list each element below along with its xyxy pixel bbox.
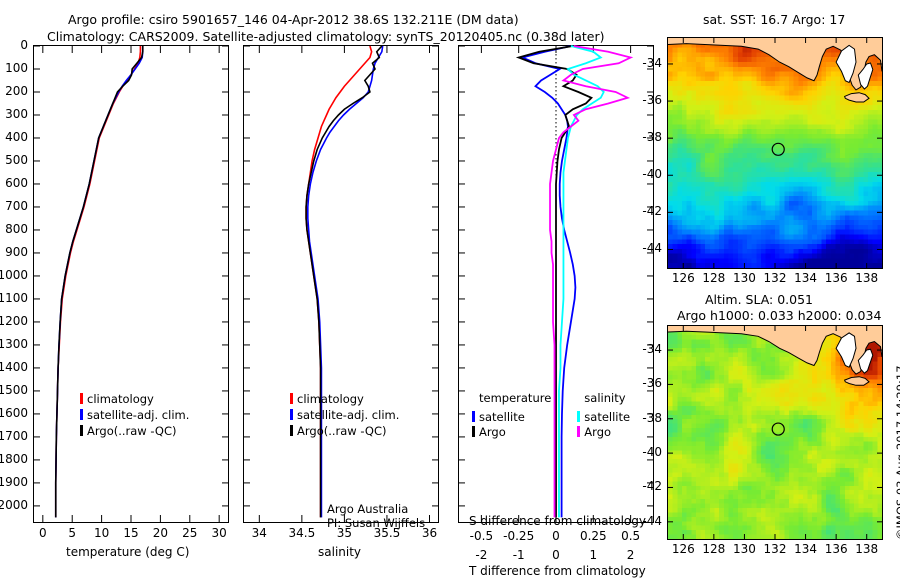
salinity-tick-label: 34.5 bbox=[289, 526, 316, 540]
sla-lat-ticklabels: -34-36-38-40-42-44 bbox=[633, 325, 665, 540]
temperature-tick-label: 20 bbox=[153, 526, 168, 540]
depth-tick-label: 300 bbox=[5, 107, 28, 121]
latitude-tick-label: -42 bbox=[642, 479, 662, 493]
legend-group: salinitysatelliteArgo bbox=[577, 391, 630, 436]
latitude-tick-label: -40 bbox=[642, 445, 662, 459]
panel-note: PI: Susan Wijffels bbox=[327, 516, 425, 530]
longitude-tick-label: 136 bbox=[825, 271, 848, 285]
depth-tick-label: 1600 bbox=[0, 406, 28, 420]
longitude-tick-label: 130 bbox=[733, 271, 756, 285]
latitude-tick-label: -44 bbox=[642, 514, 662, 528]
difference-temperature-axis-label: T difference from climatology bbox=[469, 564, 646, 578]
difference-salinity-tick-label: 0.25 bbox=[580, 529, 607, 543]
legend-swatch bbox=[80, 409, 83, 420]
depth-tick-label: 0 bbox=[20, 38, 28, 52]
difference-salinity-tick-label: -0.5 bbox=[470, 529, 493, 543]
difference-temperature-ticklabels: -2-1012 bbox=[458, 548, 654, 563]
longitude-tick-label: 130 bbox=[733, 542, 756, 556]
legend-label: Argo(..raw -QC) bbox=[297, 424, 387, 438]
depth-tick-label: 2000 bbox=[0, 498, 28, 512]
difference-legend: temperaturesatelliteArgosalinitysatellit… bbox=[472, 391, 630, 436]
latitude-tick-label: -34 bbox=[642, 342, 662, 356]
legend-item: satellite-adj. clim. bbox=[80, 404, 189, 420]
sst-map bbox=[667, 37, 883, 269]
sst-map-title: sat. SST: 16.7 Argo: 17 bbox=[703, 12, 845, 27]
salinity-axis-label: salinity bbox=[318, 545, 361, 559]
latitude-tick-label: -40 bbox=[642, 167, 662, 181]
legend-swatch bbox=[577, 426, 580, 437]
depth-tick-label: 1100 bbox=[0, 291, 28, 305]
legend-label: Argo(..raw -QC) bbox=[87, 424, 177, 438]
latitude-tick-label: -34 bbox=[642, 56, 662, 70]
legend-swatch bbox=[290, 425, 293, 436]
temperature-tick-label: 0 bbox=[39, 526, 47, 540]
longitude-tick-label: 138 bbox=[855, 271, 878, 285]
depth-tick-label: 1000 bbox=[0, 268, 28, 282]
legend-swatch bbox=[290, 409, 293, 420]
depth-tick-label: 600 bbox=[5, 176, 28, 190]
longitude-tick-label: 134 bbox=[794, 542, 817, 556]
legend-group-title: temperature bbox=[479, 391, 551, 406]
legend-item: Argo(..raw -QC) bbox=[290, 420, 399, 436]
depth-tick-label: 400 bbox=[5, 130, 28, 144]
page-title-line1: Argo profile: csiro 5901657_146 04-Apr-2… bbox=[68, 12, 519, 27]
salinity-notes: Argo AustraliaPI: Susan Wijffels bbox=[327, 502, 425, 530]
depth-tick-label: 1400 bbox=[0, 360, 28, 374]
depth-tick-label: 200 bbox=[5, 84, 28, 98]
latitude-tick-label: -38 bbox=[642, 130, 662, 144]
depth-tick-label: 1300 bbox=[0, 337, 28, 351]
legend-item: satellite bbox=[472, 406, 551, 421]
difference-temperature-tick-label: -2 bbox=[475, 548, 487, 562]
longitude-tick-label: 132 bbox=[764, 542, 787, 556]
salinity-plot bbox=[243, 45, 439, 523]
legend-item: climatology bbox=[80, 388, 189, 404]
temperature-tick-label: 10 bbox=[94, 526, 109, 540]
copyright-text: ©IMOS 03-Aug-2017 14:29:17 bbox=[894, 365, 900, 540]
temperature-axis-label: temperature (deg C) bbox=[66, 545, 189, 559]
depth-tick-label: 700 bbox=[5, 199, 28, 213]
legend-item: satellite bbox=[577, 406, 630, 421]
legend-swatch bbox=[80, 393, 83, 404]
longitude-tick-label: 134 bbox=[794, 271, 817, 285]
longitude-tick-label: 126 bbox=[672, 271, 695, 285]
difference-salinity-tick-label: -0.25 bbox=[503, 529, 534, 543]
salinity-tick-label: 34 bbox=[252, 526, 267, 540]
depth-tick-label: 900 bbox=[5, 245, 28, 259]
depth-tick-label: 1800 bbox=[0, 452, 28, 466]
depth-tick-label: 1200 bbox=[0, 314, 28, 328]
legend-label: Argo bbox=[584, 425, 611, 439]
longitude-tick-label: 132 bbox=[764, 271, 787, 285]
depth-tick-label: 100 bbox=[5, 61, 28, 75]
temperature-y-ticklabels: 0100200300400500600700800900100011001200… bbox=[0, 45, 31, 523]
longitude-tick-label: 128 bbox=[702, 271, 725, 285]
depth-tick-label: 1500 bbox=[0, 383, 28, 397]
temperature-plot bbox=[33, 45, 229, 523]
difference-salinity-tick-label: 0 bbox=[552, 529, 560, 543]
temperature-tick-label: 5 bbox=[68, 526, 76, 540]
difference-salinity-ticklabels: -0.5-0.2500.250.5 bbox=[458, 529, 654, 544]
sla-lon-ticklabels: 126128130132134136138 bbox=[667, 542, 883, 558]
longitude-tick-label: 126 bbox=[672, 542, 695, 556]
latitude-tick-label: -36 bbox=[642, 376, 662, 390]
temperature-tick-label: 25 bbox=[182, 526, 197, 540]
difference-temperature-tick-label: -1 bbox=[513, 548, 525, 562]
depth-tick-label: 800 bbox=[5, 222, 28, 236]
longitude-tick-label: 128 bbox=[702, 542, 725, 556]
depth-tick-label: 1900 bbox=[0, 475, 28, 489]
depth-tick-label: 1700 bbox=[0, 429, 28, 443]
difference-salinity-axis-label: S difference from climatology bbox=[469, 514, 646, 528]
difference-temperature-tick-label: 1 bbox=[589, 548, 597, 562]
sst-lon-ticklabels: 126128130132134136138 bbox=[667, 271, 883, 287]
legend-swatch bbox=[290, 393, 293, 404]
latitude-tick-label: -42 bbox=[642, 204, 662, 218]
temperature-x-ticklabels: 051015202530 bbox=[33, 526, 229, 542]
difference-temperature-tick-label: 0 bbox=[552, 548, 560, 562]
latitude-tick-label: -36 bbox=[642, 93, 662, 107]
temperature-tick-label: 15 bbox=[123, 526, 138, 540]
sla-map-title-line1: Altim. SLA: 0.051 bbox=[705, 292, 813, 307]
legend-item: Argo(..raw -QC) bbox=[80, 420, 189, 436]
longitude-tick-label: 138 bbox=[855, 542, 878, 556]
difference-plot bbox=[458, 45, 654, 523]
legend-swatch bbox=[472, 426, 475, 437]
page-title-line2: Climatology: CARS2009. Satellite-adjuste… bbox=[47, 29, 604, 44]
legend-group-title: salinity bbox=[584, 391, 630, 406]
salinity-legend: climatologysatellite-adj. clim.Argo(..ra… bbox=[290, 388, 399, 436]
temperature-legend: climatologysatellite-adj. clim.Argo(..ra… bbox=[80, 388, 189, 436]
legend-item: climatology bbox=[290, 388, 399, 404]
legend-item: satellite-adj. clim. bbox=[290, 404, 399, 420]
depth-tick-label: 500 bbox=[5, 153, 28, 167]
latitude-tick-label: -38 bbox=[642, 411, 662, 425]
longitude-tick-label: 136 bbox=[825, 542, 848, 556]
sst-lat-ticklabels: -34-36-38-40-42-44 bbox=[633, 37, 665, 269]
sla-map bbox=[667, 325, 883, 540]
temperature-tick-label: 30 bbox=[212, 526, 227, 540]
legend-swatch bbox=[80, 425, 83, 436]
sla-map-title-line2: Argo h1000: 0.033 h2000: 0.034 bbox=[677, 308, 881, 323]
legend-group: temperaturesatelliteArgo bbox=[472, 391, 551, 436]
difference-temperature-tick-label: 2 bbox=[627, 548, 635, 562]
latitude-tick-label: -44 bbox=[642, 241, 662, 255]
panel-note: Argo Australia bbox=[327, 502, 425, 516]
legend-label: Argo bbox=[479, 425, 506, 439]
